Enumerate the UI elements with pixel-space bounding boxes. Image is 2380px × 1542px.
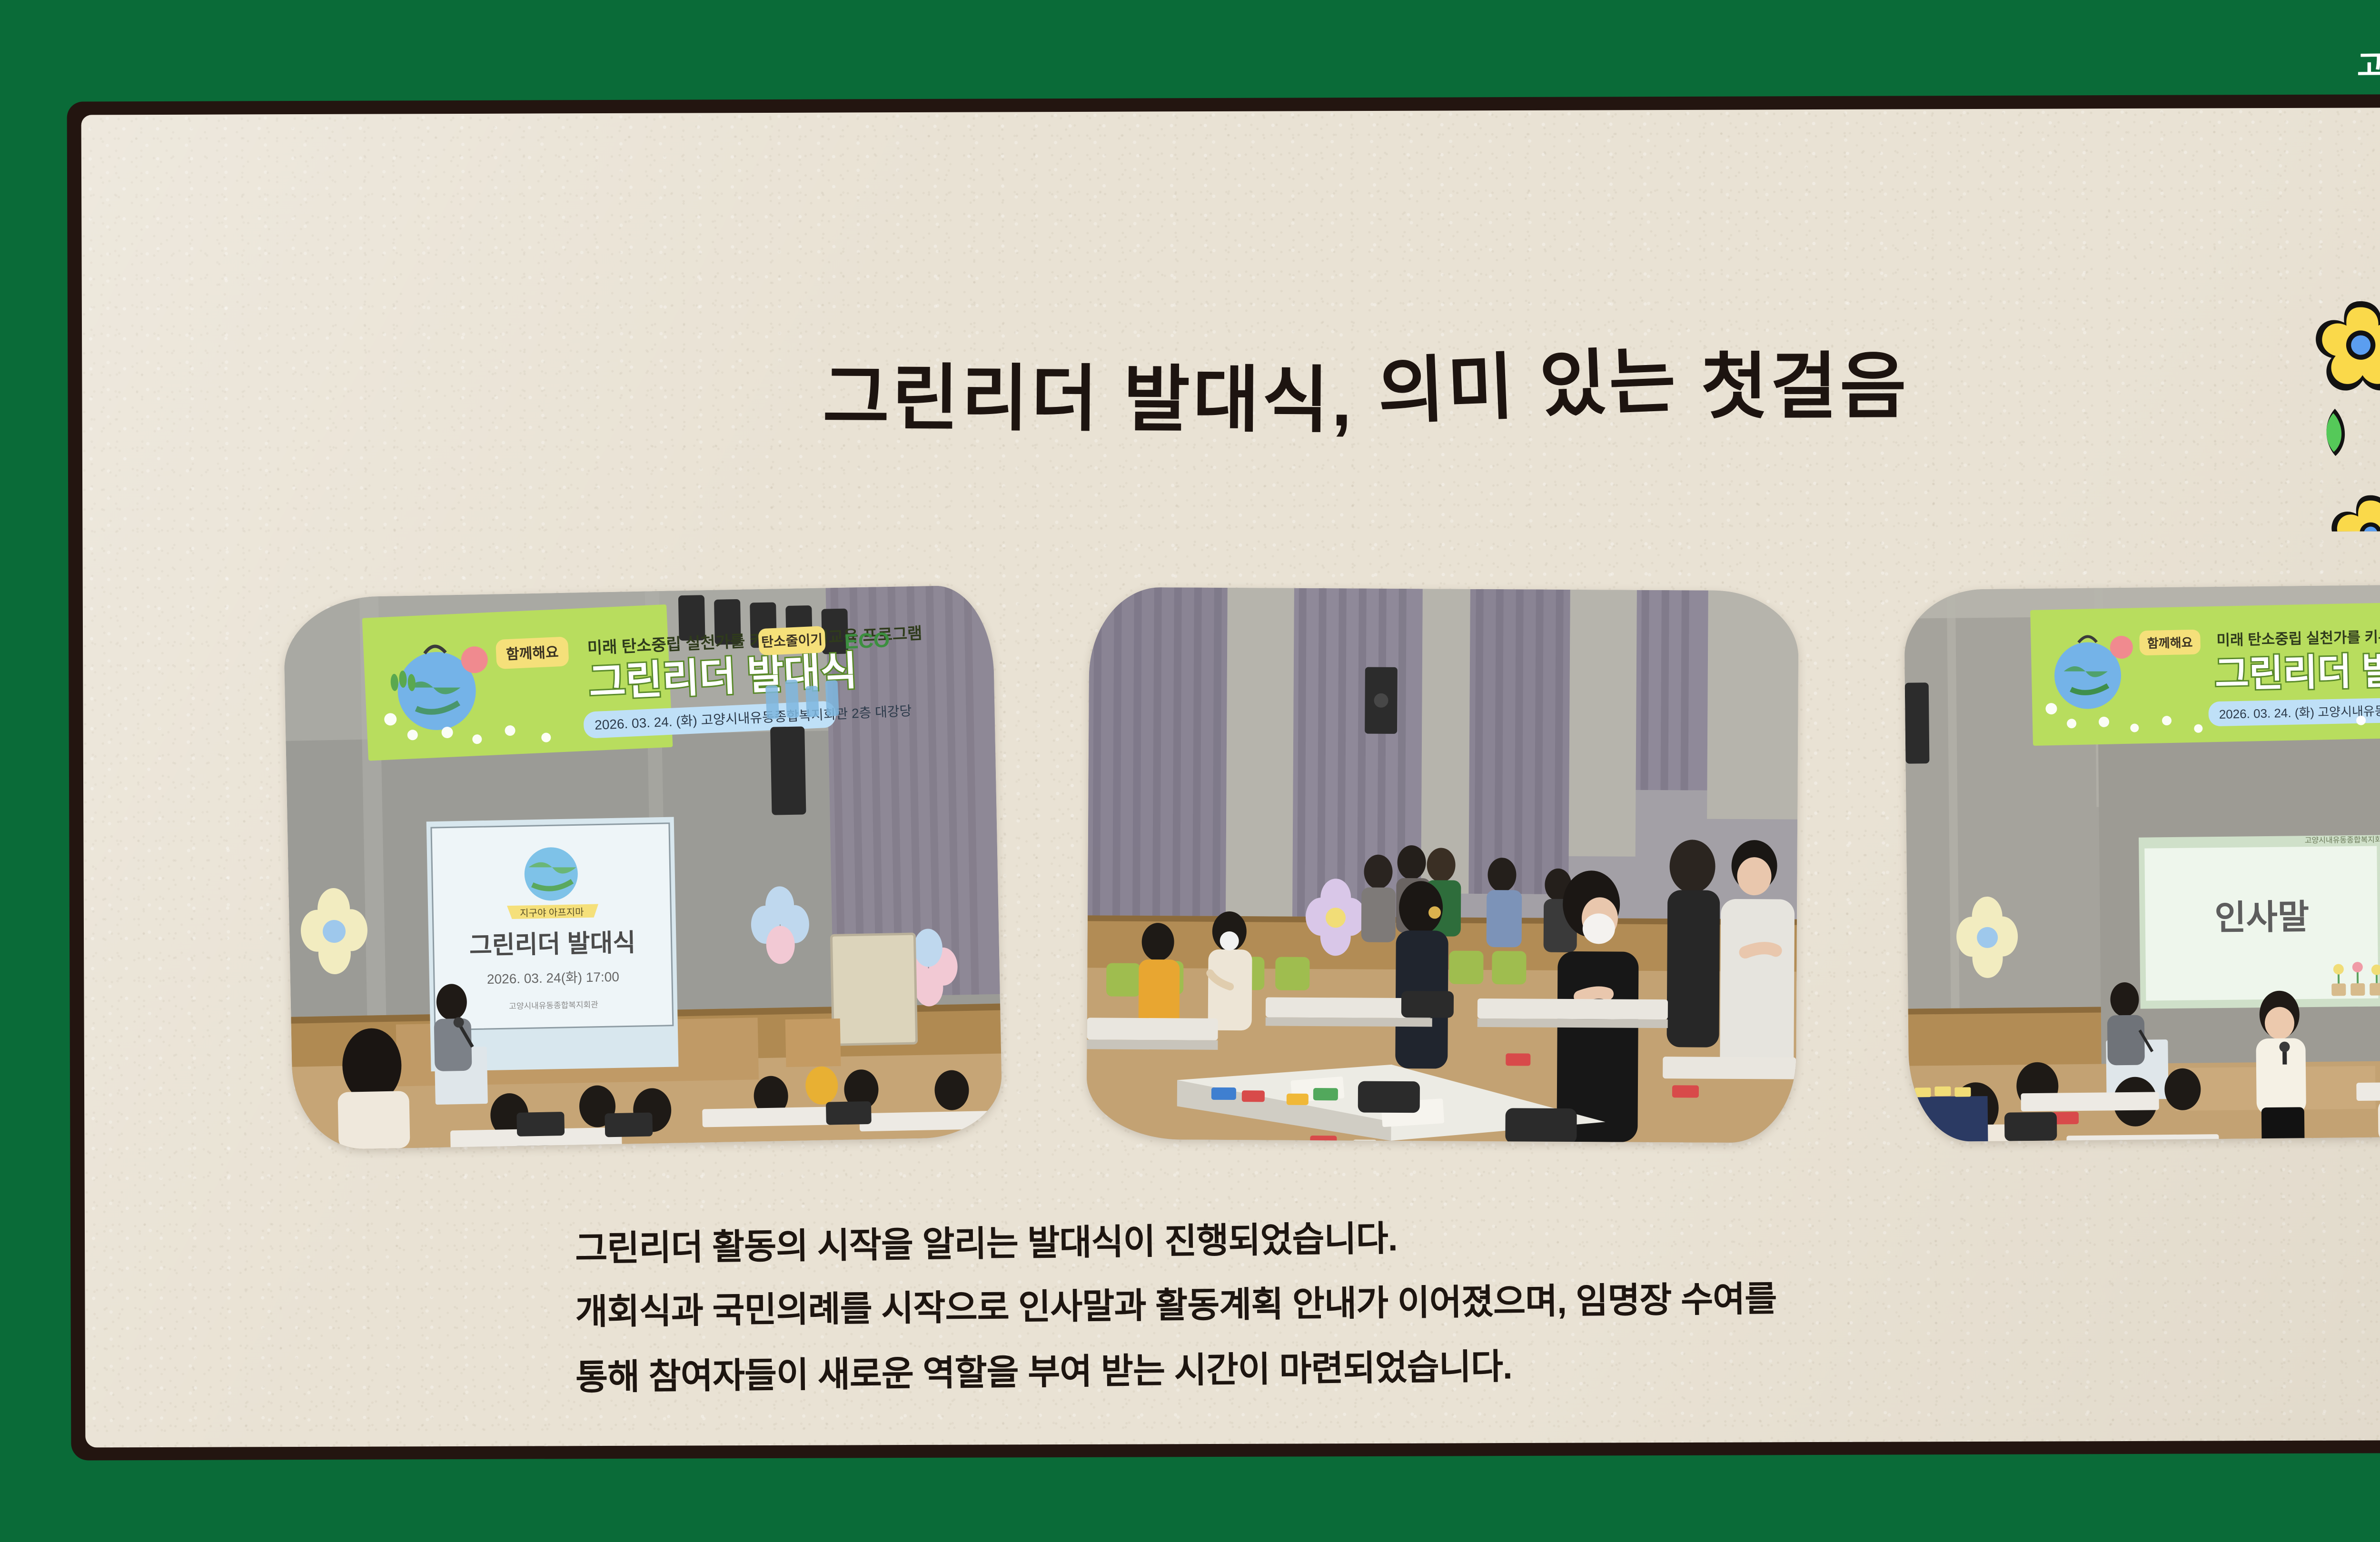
photo-gallery: 함께해요 미래 탄소중립 실천가를 키우는 환경교육 프로그램 그린리더 발대식… <box>288 585 2380 1155</box>
photo-greeting-speech[interactable]: 함께해요 미래 탄소중립 실천가를 키우는 환경교육 프로그램 그린리더 발대식… <box>1904 583 2380 1142</box>
svg-text:인사말: 인사말 <box>2214 898 2310 937</box>
page-title-part2: 의미 있는 <box>1376 321 1680 438</box>
svg-text:그린리더 발대식: 그린리더 발대식 <box>469 929 635 960</box>
svg-text:고양시내유동종합복지회관: 고양시내유동종합복지회관 <box>2305 835 2380 845</box>
photo-opening-ceremony[interactable]: 함께해요 미래 탄소중립 실천가를 키우는 환경교육 프로그램 그린리더 발대식… <box>283 585 1003 1150</box>
caption-block: 그린리더 활동의 시작을 알리는 발대식이 진행되었습니다. 개회식과 국민의례… <box>575 1216 2380 1417</box>
flower-cluster-decoration <box>2291 278 2380 532</box>
svg-text:2026. 03. 24(화) 17:00: 2026. 03. 24(화) 17:00 <box>487 969 619 987</box>
svg-text:함께해요: 함께해요 <box>2147 635 2193 651</box>
page-title-part3: 첫걸음 <box>1701 327 1909 433</box>
svg-text:고양시내유동종합복지회관: 고양시내유동종합복지회관 <box>509 1000 598 1011</box>
photo-national-anthem[interactable] <box>1086 587 1798 1143</box>
svg-text:ECO: ECO <box>844 628 890 653</box>
card-paper-surface: 그린리더 발대식, 의미 있는 첫걸음 <box>81 107 2380 1448</box>
organization-brand-title: 고양시내유동종합복지회관 <box>2357 38 2380 84</box>
flower-icon-3 <box>2331 495 2380 532</box>
svg-text:그린리더 발대식: 그린리더 발대식 <box>2214 648 2380 695</box>
leaf-icon-3 <box>2311 409 2359 456</box>
svg-text:탄소줄이기: 탄소줄이기 <box>761 632 823 650</box>
page-title-part1: 그린리더 발대식, <box>823 339 1355 446</box>
caption-line-3: 통해 참여자들이 새로운 역할을 부여 받는 시간이 마련되었습니다. <box>575 1337 2380 1395</box>
svg-text:함께해요: 함께해요 <box>506 644 559 662</box>
svg-text:지구야 아프지마: 지구야 아프지마 <box>520 907 584 919</box>
flower-icon-1 <box>2316 301 2380 391</box>
caption-line-1: 그린리더 활동의 시작을 알리는 발대식이 진행되었습니다. <box>575 1207 2380 1266</box>
card-outer-frame: 그린리더 발대식, 의미 있는 첫걸음 <box>67 93 2380 1460</box>
caption-line-2: 개회식과 국민의례를 시작으로 인사말과 활동계획 안내가 이어졌으며, 임명장… <box>575 1274 2380 1330</box>
page-title: 그린리더 발대식, 의미 있는 첫걸음 <box>81 308 2380 461</box>
